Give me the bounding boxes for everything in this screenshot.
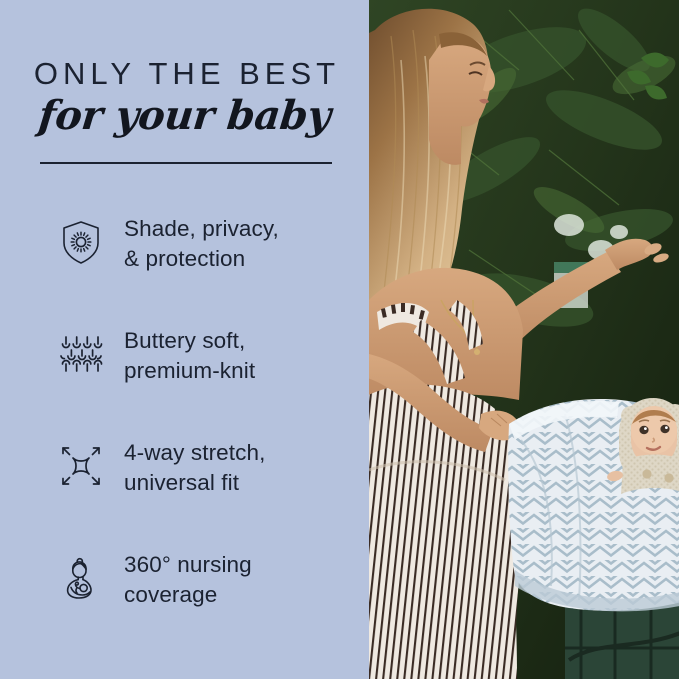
feature-label-line1: 360° nursing: [124, 550, 354, 580]
feature-item-4-way-stretch-universal-fit: 4-way stretch, universal fit: [0, 430, 369, 542]
knit-stitch-icon: [57, 330, 105, 378]
feature-label-line1: 4-way stretch,: [124, 438, 354, 468]
nursing-mother-icon: [57, 554, 105, 602]
feature-label-line2: & protection: [124, 244, 354, 274]
feature-label-line2: universal fit: [124, 468, 354, 498]
headline-primary: ONLY THE BEST: [0, 58, 369, 91]
info-panel: ONLY THE BEST for your baby: [0, 0, 369, 679]
shield-sun-icon: [57, 218, 105, 266]
feature-item-360-nursing-coverage: 360° nursing coverage: [0, 542, 369, 654]
feature-label: Buttery soft, premium-knit: [124, 326, 354, 385]
feature-label-line1: Buttery soft,: [124, 326, 354, 356]
feature-label-line2: coverage: [124, 580, 354, 610]
product-feature-graphic: ONLY THE BEST for your baby: [0, 0, 679, 679]
feature-label: 360° nursing coverage: [124, 550, 354, 609]
four-way-stretch-icon: [57, 442, 105, 490]
lifestyle-photo: [369, 0, 679, 679]
headline-block: ONLY THE BEST for your baby: [0, 58, 369, 139]
feature-label: 4-way stretch, universal fit: [124, 438, 354, 497]
feature-label-line2: premium-knit: [124, 356, 354, 386]
headline-script: for your baby: [0, 93, 369, 139]
feature-label: Shade, privacy, & protection: [124, 214, 354, 273]
headline-divider: [40, 162, 332, 164]
feature-item-shade-privacy-protection: Shade, privacy, & protection: [0, 206, 369, 318]
feature-item-buttery-soft-premium-knit: Buttery soft, premium-knit: [0, 318, 369, 430]
feature-list: Shade, privacy, & protection: [0, 206, 369, 654]
feature-label-line1: Shade, privacy,: [124, 214, 354, 244]
